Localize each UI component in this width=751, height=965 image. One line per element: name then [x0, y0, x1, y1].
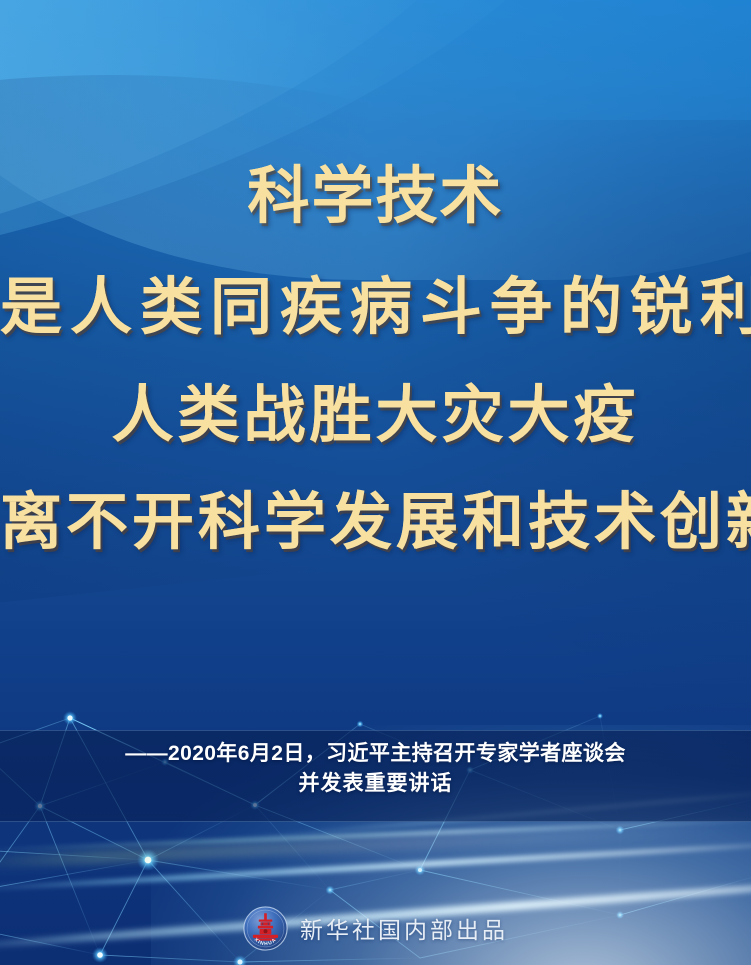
headline-line-2: 是人类同疾病斗争的锐利武器 — [0, 277, 751, 339]
band-divider-bottom — [0, 821, 751, 822]
light-streak-mid — [0, 838, 751, 894]
attribution-text: ——2020年6月2日，习近平主持召开专家学者座谈会 并发表重要讲话 — [0, 739, 751, 799]
headline-line-4: 离不开科学发展和技术创新 — [0, 492, 751, 554]
poster-canvas: 科学技术 是人类同疾病斗争的锐利武器 人类战胜大灾大疫 离不开科学发展和技术创新… — [0, 0, 751, 965]
publisher-label: 新华社国内部出品 — [300, 911, 508, 945]
prism-tint-streak — [0, 822, 720, 870]
attribution-row-2: 并发表重要讲话 — [0, 769, 751, 799]
headline-line-1: 科学技术 — [0, 166, 751, 228]
background-curve-glow — [0, 0, 751, 280]
footer-bar: XINHUA 新华社国内部出品 — [0, 900, 751, 956]
light-streak-upper — [0, 817, 751, 853]
attribution-row-1: ——2020年6月2日，习近平主持召开专家学者座谈会 — [0, 739, 751, 769]
xinhua-agency-logo-icon: XINHUA — [243, 906, 288, 951]
band-divider-top — [0, 730, 751, 731]
headline-line-3: 人类战胜大灾大疫 — [0, 385, 751, 447]
